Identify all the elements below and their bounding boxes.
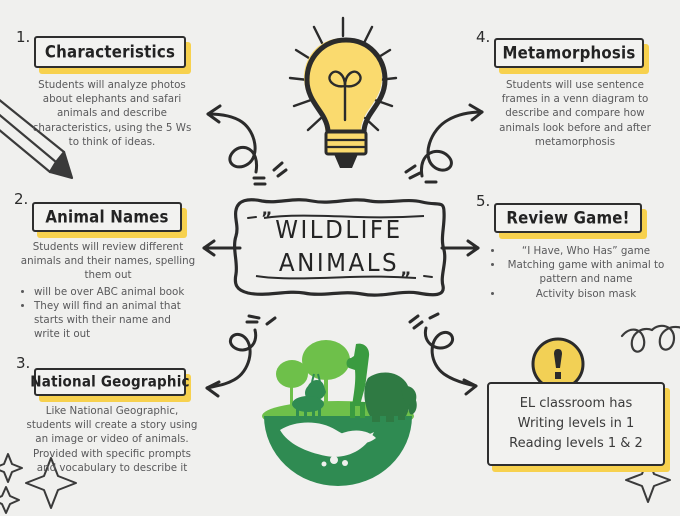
lightbulb-icon: [288, 14, 398, 176]
node-body-5: “I Have, Who Has” game Matching game wit…: [486, 242, 668, 301]
center-title-line-1: WILDLIFE: [275, 214, 402, 247]
node-title-box-3[interactable]: National Geographic: [34, 368, 186, 396]
node-bullets-5: “I Have, Who Has” game Matching game wit…: [486, 244, 668, 301]
node-title-label-1: Characteristics: [45, 42, 175, 62]
node-title-box-2[interactable]: Animal Names: [32, 202, 182, 232]
center-title: WILDLIFE ANIMALS: [228, 187, 450, 308]
list-item: Matching game with animal to pattern and…: [504, 258, 668, 286]
node-body-2: Students will review different animals a…: [18, 240, 198, 341]
list-item: They will find an animal that starts wit…: [34, 299, 198, 342]
node-body-text-1: Students will analyze photos about eleph…: [26, 78, 198, 149]
node-number-5: 5.: [476, 192, 490, 210]
node-body-text-4: Students will use sentence frames in a v…: [488, 78, 662, 149]
node-title-box-4[interactable]: Metamorphosis: [494, 38, 644, 68]
squiggle-doodle-icon: [616, 306, 680, 378]
node-body-text-2: Students will review different animals a…: [18, 240, 198, 283]
node-body-3: Like National Geographic, students will …: [24, 404, 200, 475]
mindmap-canvas: ” ” WILDLIFE ANIMALS 1. Characteristics …: [0, 0, 680, 510]
note-box[interactable]: EL classroom has Writing levels in 1 Rea…: [487, 382, 665, 466]
node-title-box-1[interactable]: Characteristics: [34, 36, 186, 68]
node-number-3: 3.: [16, 354, 30, 372]
node-bullets-2: will be over ABC animal book They will f…: [18, 285, 198, 342]
node-title-label-3: National Geographic: [30, 373, 189, 391]
list-item: Activity bison mask: [504, 287, 668, 301]
note-box-line-3: Reading levels 1 & 2: [509, 434, 643, 454]
node-body-1: Students will analyze photos about eleph…: [26, 78, 198, 149]
note-box-line-2: Writing levels in 1: [518, 414, 635, 434]
node-title-label-2: Animal Names: [45, 207, 168, 227]
node-body-text-3: Like National Geographic, students will …: [24, 404, 200, 475]
center-title-line-2: ANIMALS: [279, 247, 399, 280]
node-body-4: Students will use sentence frames in a v…: [488, 78, 662, 149]
list-item: “I Have, Who Has” game: [504, 244, 668, 258]
node-number-2: 2.: [14, 190, 28, 208]
note-box-line-1: EL classroom has: [520, 394, 633, 414]
node-title-label-4: Metamorphosis: [502, 43, 635, 63]
list-item: will be over ABC animal book: [34, 285, 198, 299]
node-title-box-5[interactable]: Review Game!: [494, 203, 642, 233]
node-number-1: 1.: [16, 28, 30, 46]
wildlife-globe-icon: [250, 334, 426, 474]
node-title-label-5: Review Game!: [506, 208, 629, 228]
center-node: ” ” WILDLIFE ANIMALS: [228, 192, 450, 302]
node-number-4: 4.: [476, 28, 490, 46]
